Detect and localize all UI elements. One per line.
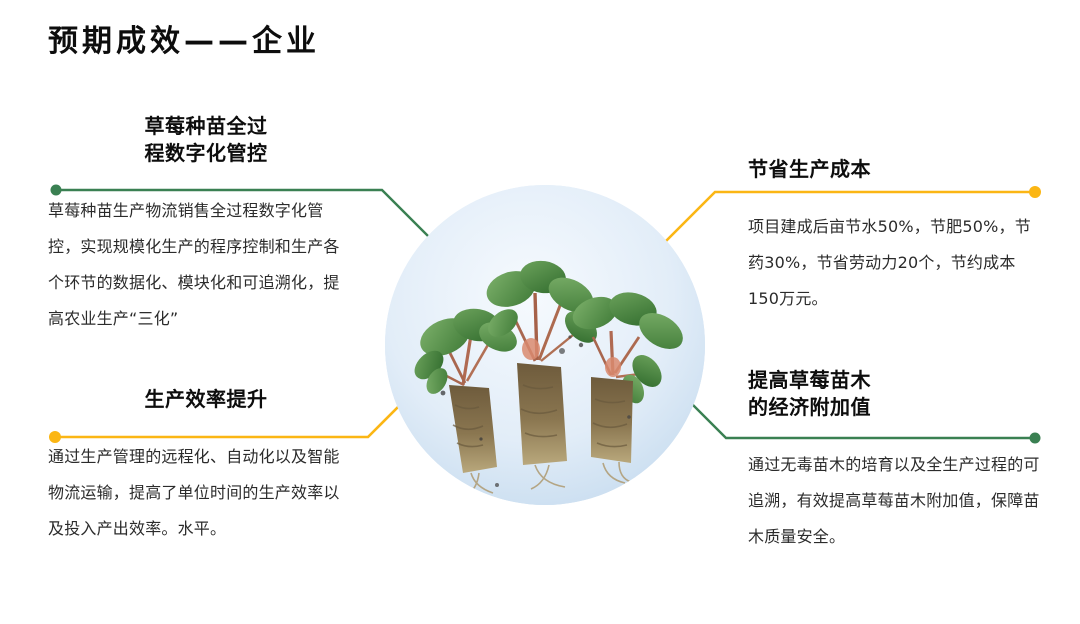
info-block-heading: 生产效率提升 (56, 386, 356, 413)
info-block-heading: 节省生产成本 (748, 156, 1048, 183)
info-block-bottom-right: 提高草莓苗木 的经济附加值 通过无毒苗木的培育以及全生产过程的可追溯，有效提高草… (748, 367, 1058, 555)
info-block-heading: 提高草莓苗木 的经济附加值 (748, 367, 1048, 421)
seedlings-illustration (385, 185, 705, 505)
info-block-heading: 草莓种苗全过 程数字化管控 (56, 113, 356, 167)
info-block-body: 通过生产管理的远程化、自动化以及智能物流运输，提高了单位时间的生产效率以及投入产… (48, 439, 348, 547)
info-block-top-left: 草莓种苗全过 程数字化管控 草莓种苗生产物流销售全过程数字化管控，实现规模化生产… (48, 113, 388, 337)
info-block-bottom-left: 生产效率提升 通过生产管理的远程化、自动化以及智能物流运输，提高了单位时间的生产… (48, 386, 388, 547)
info-block-body: 草莓种苗生产物流销售全过程数字化管控，实现规模化生产的程序控制和生产各个环节的数… (48, 193, 348, 337)
slide-canvas: 预期成效——企业 (0, 0, 1080, 624)
strawberry-seedlings-photo (385, 185, 705, 505)
info-block-top-right: 节省生产成本 项目建成后亩节水50%，节肥50%，节药30%，节省劳动力20个，… (748, 156, 1058, 317)
page-title: 预期成效——企业 (48, 20, 320, 64)
info-block-body: 通过无毒苗木的培育以及全生产过程的可追溯，有效提高草莓苗木附加值，保障苗木质量安… (748, 447, 1046, 555)
info-block-body: 项目建成后亩节水50%，节肥50%，节药30%，节省劳动力20个，节约成本150… (748, 209, 1046, 317)
